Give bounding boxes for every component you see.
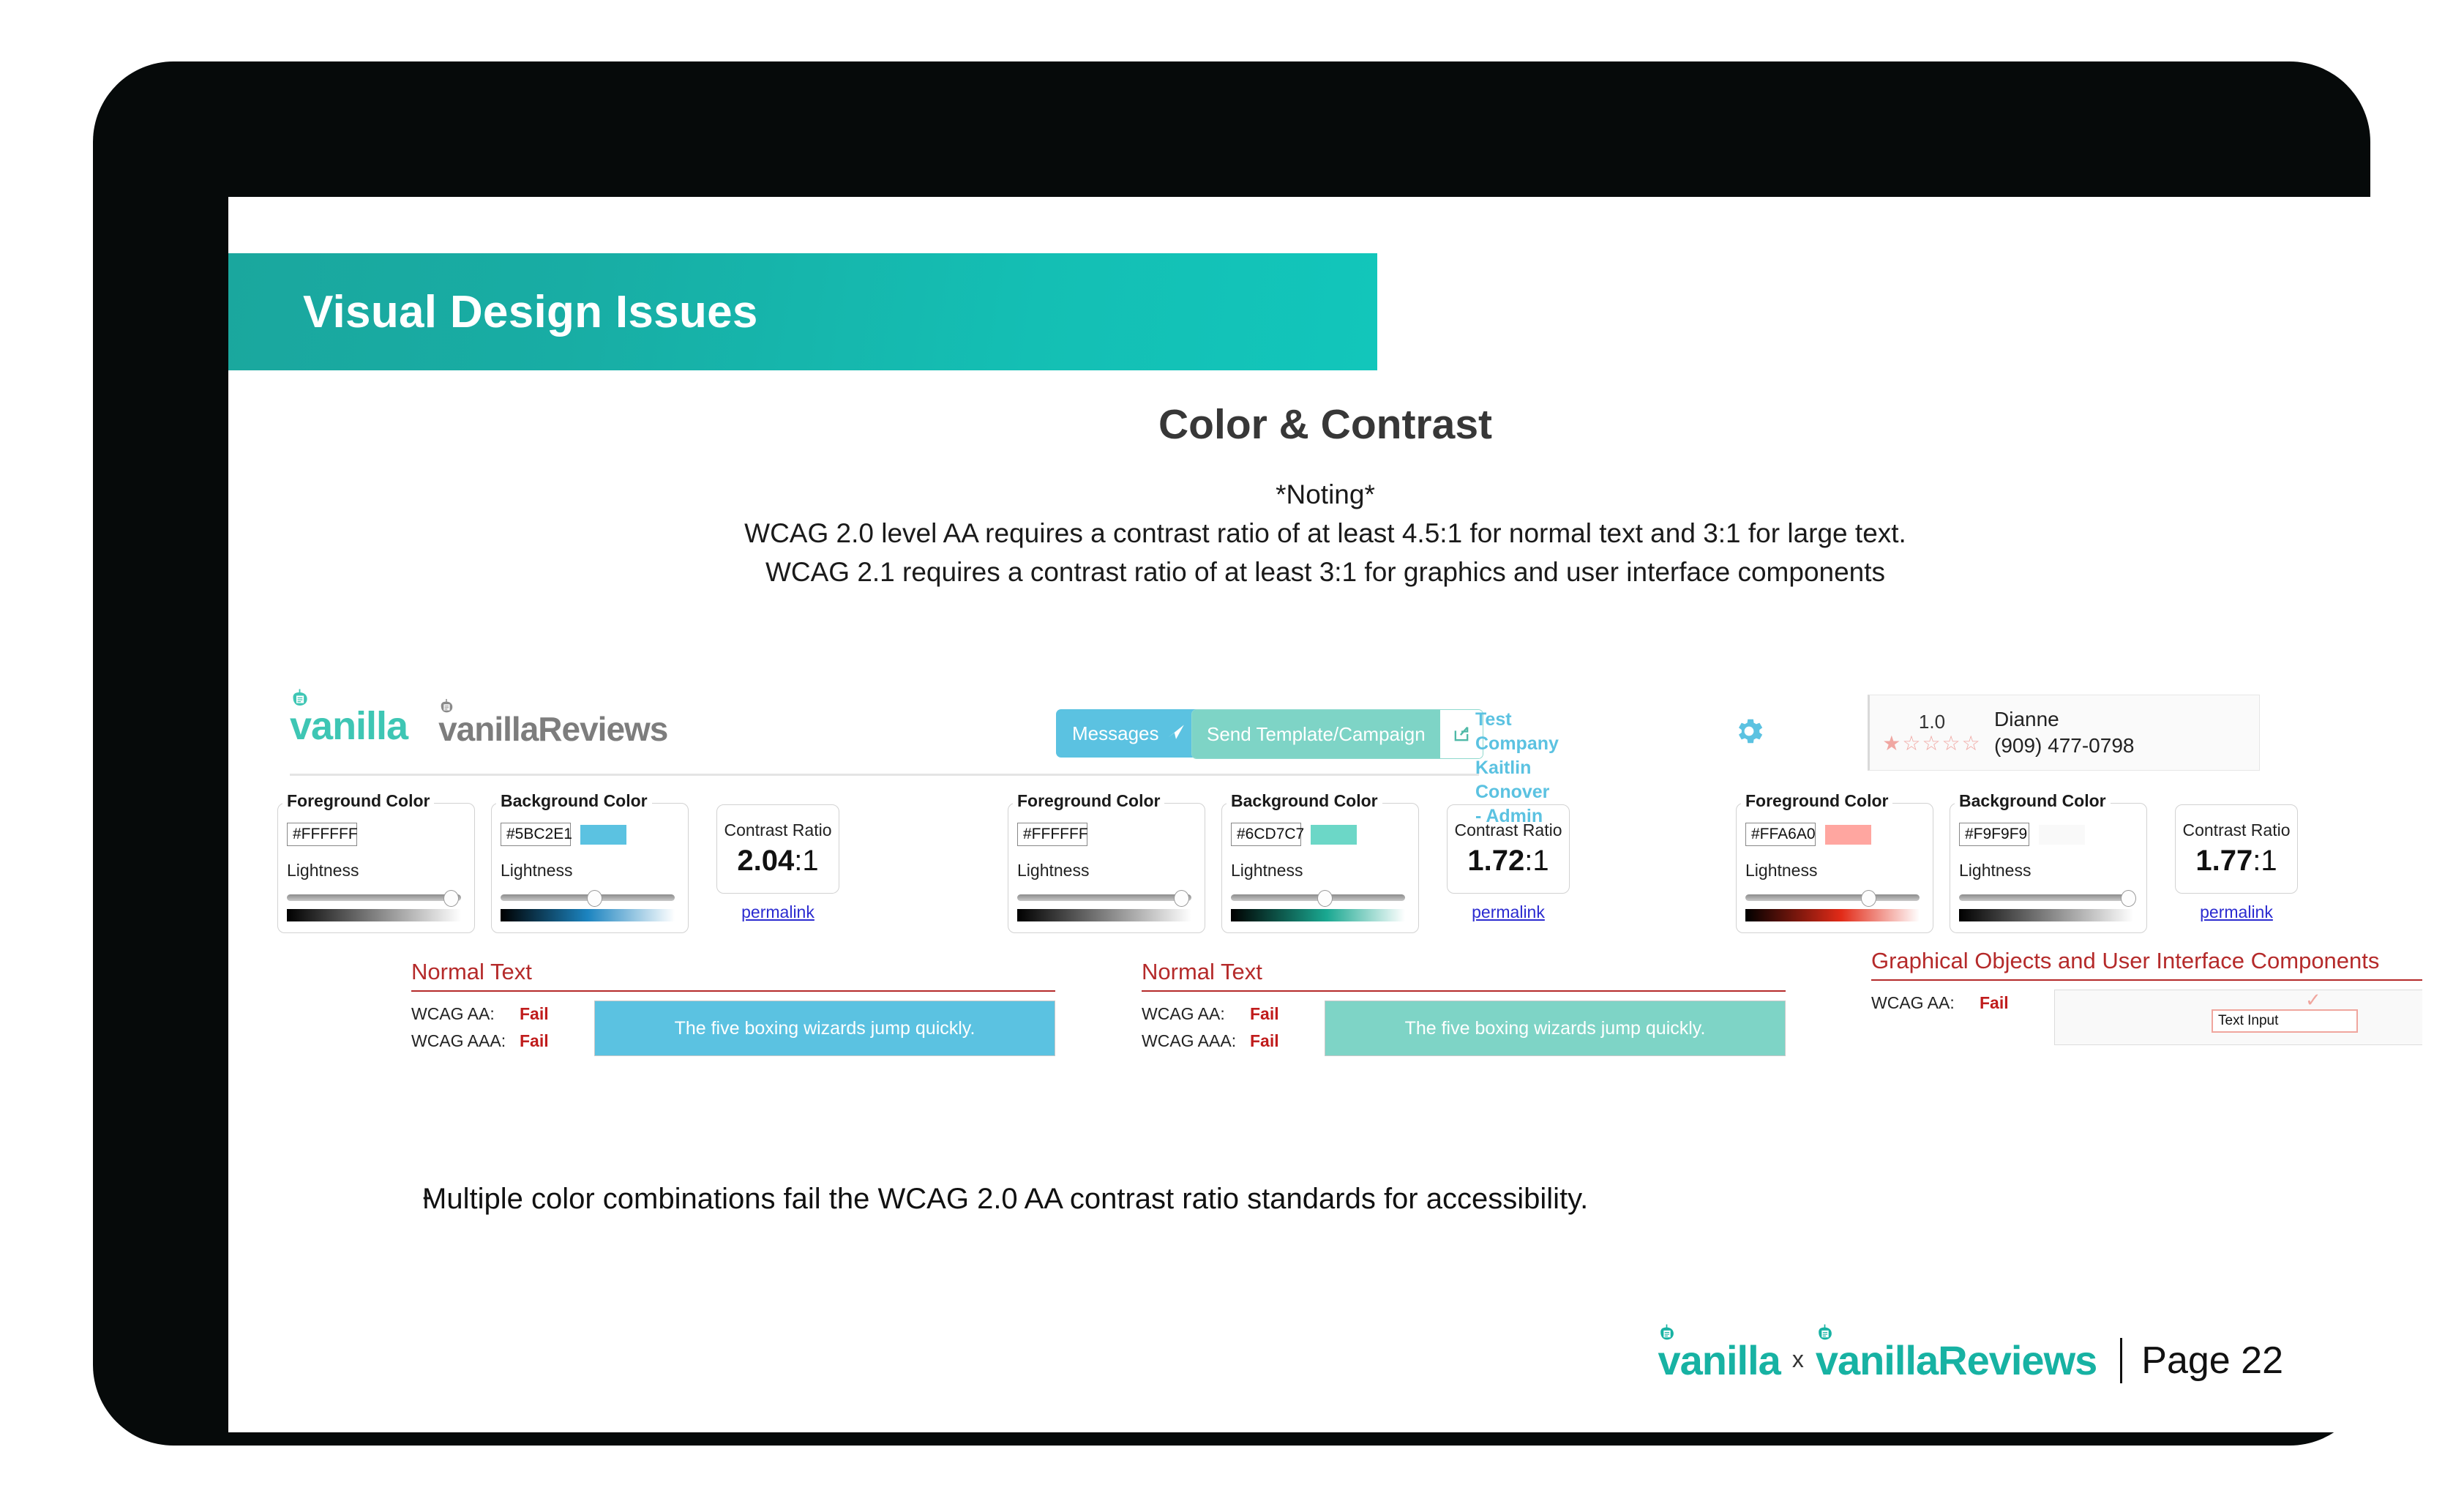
result-divider bbox=[1142, 990, 1786, 992]
background-color-card: Background Color #6CD7C7 Lightness bbox=[1221, 803, 1419, 933]
wcag-aaa-label: WCAG AAA: bbox=[1142, 1028, 1250, 1055]
contrast-results-1: Normal Text WCAG AA: Fail WCAG AAA: Fail… bbox=[411, 958, 1055, 1056]
footer-vanillareviews-text: vanillaReviews bbox=[1816, 1340, 2097, 1381]
contrast-panel-2: Foreground Color #FFFFFF Lightness Backg… bbox=[1008, 803, 1666, 935]
sample-text-box: The five boxing wizards jump quickly. bbox=[1325, 1001, 1786, 1056]
vanilla-logo-text: vanilla bbox=[290, 706, 408, 746]
slider-knob[interactable] bbox=[443, 890, 459, 907]
foreground-swatch bbox=[1825, 825, 1871, 845]
lightness-gradient bbox=[501, 909, 675, 921]
star-rating-icon: ★☆☆☆☆ bbox=[1870, 733, 1994, 755]
background-color-card: Background Color #5BC2E1 Lightness bbox=[491, 803, 689, 933]
wcag-aa-row: WCAG AA: Fail bbox=[411, 1001, 594, 1028]
ui-component-demo: ✓ Text Input bbox=[2054, 990, 2422, 1045]
noting-line-2: WCAG 2.1 requires a contrast ratio of at… bbox=[228, 553, 2422, 591]
slider-knob[interactable] bbox=[1861, 890, 1876, 907]
slide-title-band: Visual Design Issues bbox=[228, 253, 1377, 370]
contrast-ratio-card: Contrast Ratio 2.04:1 bbox=[716, 804, 839, 894]
review-contact: Dianne (909) 477-0798 bbox=[1994, 706, 2134, 759]
foreground-color-card: Foreground Color #FFFFFF Lightness bbox=[277, 803, 475, 933]
result-heading: Normal Text bbox=[1142, 958, 1786, 986]
review-card[interactable]: 1.0 ★☆☆☆☆ Dianne (909) 477-0798 bbox=[1868, 695, 2260, 771]
contrast-ratio-label: Contrast Ratio bbox=[2182, 820, 2290, 840]
wcag-aa-result: Fail bbox=[1250, 1001, 1279, 1028]
footer-vanilla-text: vanilla bbox=[1658, 1340, 1780, 1381]
vanillareviews-logo: vanillaReviews bbox=[438, 712, 667, 746]
lightness-slider[interactable] bbox=[1745, 894, 1920, 901]
foreground-hex-input[interactable]: #FFA6A0 bbox=[1745, 823, 1816, 846]
lightness-slider[interactable] bbox=[1959, 894, 2133, 901]
noting-line-1: WCAG 2.0 level AA requires a contrast ra… bbox=[228, 514, 2422, 553]
lightness-label: Lightness bbox=[501, 861, 572, 880]
foreground-hex-input[interactable]: #FFFFFF bbox=[1017, 823, 1087, 846]
vanillareviews-badge-icon bbox=[438, 698, 454, 717]
check-icon: ✓ bbox=[2305, 989, 2321, 1011]
noting-label: *Noting* bbox=[228, 475, 2422, 514]
lightness-slider[interactable] bbox=[1017, 894, 1191, 901]
lightness-gradient bbox=[287, 909, 461, 921]
slide-title: Visual Design Issues bbox=[303, 286, 758, 338]
wcag-aaa-row: WCAG AAA: Fail bbox=[411, 1028, 594, 1055]
vanillareviews-logo-text: vanillaReviews bbox=[438, 712, 667, 746]
slide-canvas: Visual Design Issues Color & Contrast *N… bbox=[228, 197, 2422, 1432]
footer-vanilla-badge-icon bbox=[1658, 1323, 1676, 1345]
bullet-row: - Multiple color combinations fail the W… bbox=[272, 1181, 2248, 1216]
lightness-gradient bbox=[1231, 909, 1405, 921]
permalink-link[interactable]: permalink bbox=[716, 902, 839, 922]
toolbar-divider bbox=[290, 774, 1479, 776]
footer-vanilla-logo: vanilla bbox=[1658, 1340, 1780, 1381]
footer-vanillareviews-logo: vanillaReviews bbox=[1816, 1340, 2097, 1381]
wcag-aaa-label: WCAG AAA: bbox=[411, 1028, 520, 1055]
contrast-panel-1: Foreground Color #FFFFFF Lightness Backg… bbox=[277, 803, 936, 935]
background-swatch bbox=[580, 825, 626, 845]
foreground-legend: Foreground Color bbox=[1741, 791, 1892, 811]
vanilla-badge-icon bbox=[290, 687, 310, 711]
send-template-label: Send Template/Campaign bbox=[1192, 710, 1440, 758]
slider-knob[interactable] bbox=[1317, 890, 1333, 907]
foreground-color-card: Foreground Color #FFFFFF Lightness bbox=[1008, 803, 1205, 933]
company-name: Test Company bbox=[1475, 708, 1559, 756]
background-legend: Background Color bbox=[496, 791, 652, 811]
lightness-label: Lightness bbox=[1017, 861, 1089, 880]
foreground-color-card: Foreground Color #FFA6A0 Lightness bbox=[1736, 803, 1933, 933]
reviewer-phone: (909) 477-0798 bbox=[1994, 733, 2134, 759]
section-heading: Color & Contrast bbox=[228, 400, 2422, 449]
lightness-slider[interactable] bbox=[287, 894, 461, 901]
send-template-campaign-button[interactable]: Send Template/Campaign bbox=[1191, 709, 1483, 759]
wcag-aaa-row: WCAG AAA: Fail bbox=[1142, 1028, 1325, 1055]
wcag-aaa-result: Fail bbox=[520, 1028, 549, 1055]
vanilla-logo: vanilla bbox=[290, 706, 408, 746]
lightness-label: Lightness bbox=[1959, 861, 2031, 880]
background-color-card: Background Color #F9F9F9 Lightness bbox=[1950, 803, 2147, 933]
reviewer-name: Dianne bbox=[1994, 706, 2134, 733]
footer-divider bbox=[2120, 1338, 2122, 1383]
lightness-slider[interactable] bbox=[1231, 894, 1405, 901]
lightness-label: Lightness bbox=[287, 861, 359, 880]
bullet-dash: - bbox=[272, 1181, 422, 1213]
slider-knob[interactable] bbox=[587, 890, 602, 907]
app-logo-group: vanilla vanillaReviews bbox=[290, 706, 667, 746]
footer-vanillareviews-badge-icon bbox=[1816, 1323, 1834, 1345]
background-hex-input[interactable]: #F9F9F9 bbox=[1959, 823, 2029, 846]
page-number: Page 22 bbox=[2141, 1339, 2283, 1383]
contrast-ratio-label: Contrast Ratio bbox=[724, 820, 831, 840]
slider-knob[interactable] bbox=[1174, 890, 1189, 907]
app-toolbar-screenshot: vanilla vanillaReviews bbox=[290, 693, 1541, 774]
background-swatch bbox=[2039, 825, 2085, 845]
messages-button-label: Messages bbox=[1072, 722, 1159, 745]
review-rating: 1.0 ★☆☆☆☆ bbox=[1870, 711, 1994, 755]
slider-knob[interactable] bbox=[2121, 890, 2136, 907]
contrast-ratio-label: Contrast Ratio bbox=[1454, 820, 1562, 840]
wcag-aa-row: WCAG AA: Fail bbox=[1142, 1001, 1325, 1028]
send-plane-icon bbox=[1167, 722, 1186, 746]
contrast-results-3: Graphical Objects and User Interface Com… bbox=[1871, 947, 2422, 1045]
result-heading: Normal Text bbox=[411, 958, 1055, 986]
permalink-link[interactable]: permalink bbox=[2175, 902, 2298, 922]
background-hex-input[interactable]: #5BC2E1 bbox=[501, 823, 571, 846]
result-heading: Graphical Objects and User Interface Com… bbox=[1871, 947, 2422, 975]
background-legend: Background Color bbox=[1227, 791, 1382, 811]
tablet-frame: Visual Design Issues Color & Contrast *N… bbox=[93, 61, 2370, 1446]
sample-text-box: The five boxing wizards jump quickly. bbox=[594, 1001, 1055, 1056]
result-divider bbox=[411, 990, 1055, 992]
foreground-legend: Foreground Color bbox=[282, 791, 434, 811]
wcag-aa-row: WCAG AA: Fail bbox=[1871, 990, 2054, 1017]
slide-footer: vanilla x vanillaReviews Page 22 bbox=[228, 1328, 2422, 1394]
lightness-gradient bbox=[1959, 909, 2133, 921]
gear-icon[interactable] bbox=[1731, 714, 1767, 749]
background-legend: Background Color bbox=[1955, 791, 2111, 811]
noting-block: *Noting* WCAG 2.0 level AA requires a co… bbox=[228, 475, 2422, 591]
bullet-text: Multiple color combinations fail the WCA… bbox=[422, 1181, 1588, 1216]
lightness-slider[interactable] bbox=[501, 894, 675, 901]
text-input-mock[interactable]: Text Input bbox=[2212, 1009, 2358, 1033]
background-hex-input[interactable]: #6CD7C7 bbox=[1231, 823, 1301, 846]
wcag-aaa-result: Fail bbox=[1250, 1028, 1279, 1055]
footer-separator: x bbox=[1792, 1346, 1804, 1373]
review-score: 1.0 bbox=[1870, 711, 1994, 733]
contrast-results-2: Normal Text WCAG AA: Fail WCAG AAA: Fail… bbox=[1142, 958, 1786, 1056]
lightness-label: Lightness bbox=[1231, 861, 1303, 880]
wcag-aa-label: WCAG AA: bbox=[1142, 1001, 1250, 1028]
contrast-ratio-value: 1.77:1 bbox=[2195, 845, 2277, 878]
background-swatch bbox=[1311, 825, 1357, 845]
lightness-gradient bbox=[1745, 909, 1920, 921]
contrast-ratio-value: 2.04:1 bbox=[737, 845, 818, 878]
lightness-gradient bbox=[1017, 909, 1191, 921]
wcag-aa-result: Fail bbox=[1980, 990, 2009, 1017]
wcag-aa-label: WCAG AA: bbox=[1871, 990, 1980, 1017]
messages-button[interactable]: Messages bbox=[1056, 709, 1202, 758]
result-divider bbox=[1871, 979, 2422, 981]
contrast-ratio-value: 1.72:1 bbox=[1467, 845, 1549, 878]
contrast-panel-3: Foreground Color #FFA6A0 Lightness Backg… bbox=[1736, 803, 2394, 935]
permalink-link[interactable]: permalink bbox=[1447, 902, 1570, 922]
contrast-ratio-card: Contrast Ratio 1.72:1 bbox=[1447, 804, 1570, 894]
wcag-aa-label: WCAG AA: bbox=[411, 1001, 520, 1028]
foreground-legend: Foreground Color bbox=[1013, 791, 1164, 811]
lightness-label: Lightness bbox=[1745, 861, 1817, 880]
contrast-ratio-card: Contrast Ratio 1.77:1 bbox=[2175, 804, 2298, 894]
foreground-hex-input[interactable]: #FFFFFF bbox=[287, 823, 357, 846]
wcag-aa-result: Fail bbox=[520, 1001, 549, 1028]
